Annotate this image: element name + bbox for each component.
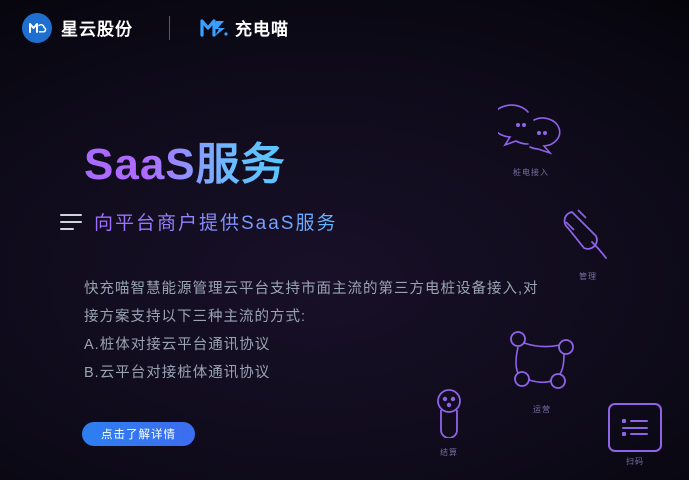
glyph-caption: 运营 <box>533 404 551 415</box>
glyph-caption: 扫码 <box>626 456 644 467</box>
glyph-caption: 桩电接入 <box>513 167 549 178</box>
body-line: 快充喵智慧能源管理云平台支持市面主流的第三方电桩设备接入,对 <box>84 275 584 303</box>
page-subtitle: 向平台商户提供SaaS服务 <box>94 208 337 235</box>
page-header: 星云股份 充电喵 <box>0 0 689 55</box>
partner-logo: 充电喵 <box>200 15 289 40</box>
glyph-caption: 结算 <box>440 447 458 458</box>
glyph-charging-gun: 结算 <box>425 388 473 458</box>
cloud-m-logo-icon <box>22 13 52 43</box>
hamburger-menu-icon[interactable] <box>60 214 82 230</box>
plug-icon <box>562 206 614 267</box>
glyph-chat: 桩电接入 <box>498 104 564 178</box>
glyph-caption: 管理 <box>579 271 597 282</box>
subtitle-row: 向平台商户提供SaaS服务 <box>60 208 337 235</box>
glyph-network: 运营 <box>500 323 584 415</box>
partner-name: 充电喵 <box>235 15 289 40</box>
brand-name: 星云股份 <box>61 15 133 40</box>
network-nodes-icon <box>500 323 584 400</box>
glyph-scan: 扫码 <box>608 403 662 467</box>
learn-more-button[interactable]: 点击了解详情 <box>82 422 195 446</box>
glyph-plug: 管理 <box>562 206 614 282</box>
charging-gun-icon <box>425 388 473 443</box>
charging-bolt-logo-icon <box>200 17 228 39</box>
page-root: 星云股份 充电喵 SaaS服务 向平台商户提供SaaS服务 快充喵智慧能源管理云… <box>0 0 689 480</box>
qr-scan-icon <box>608 403 662 452</box>
chat-bubbles-icon <box>498 104 564 163</box>
header-divider <box>169 16 170 40</box>
page-title: SaaS服务 <box>84 128 286 192</box>
